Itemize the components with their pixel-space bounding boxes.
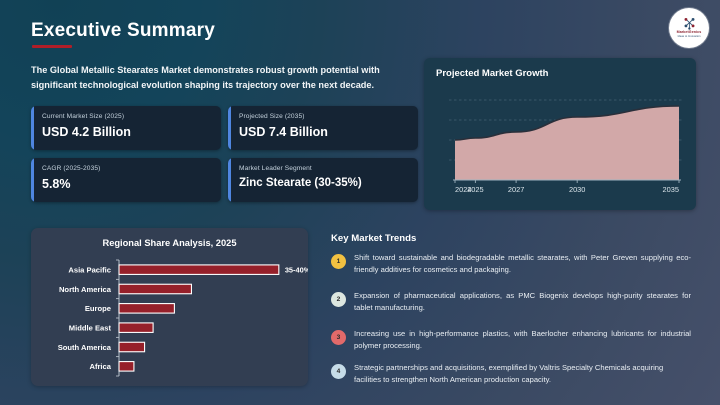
- trend-number-badge: 2: [331, 292, 346, 307]
- trend-item: 1 Shift toward sustainable and biodegrad…: [331, 252, 691, 277]
- page-title: Executive Summary: [31, 20, 215, 42]
- kpi-label: Current Market Size (2025): [42, 113, 124, 120]
- trend-item: 4 Strategic partnerships and acquisition…: [331, 362, 691, 387]
- svg-text:35-40%: 35-40%: [285, 266, 308, 275]
- page-subtitle: The Global Metallic Stearates Market dem…: [31, 63, 411, 93]
- brand-logo: MarketGenics Ideas to Innovation: [669, 8, 709, 48]
- svg-text:2025: 2025: [467, 185, 483, 194]
- kpi-card-current-market-size: Current Market Size (2025) USD 4.2 Billi…: [31, 106, 221, 150]
- kpi-value: USD 7.4 Billion: [239, 125, 328, 139]
- kpi-card-cagr: CAGR (2025-2035) 5.8%: [31, 158, 221, 202]
- svg-text:South America: South America: [58, 343, 112, 352]
- kpi-card-market-leader-segment: Market Leader Segment Zinc Stearate (30-…: [228, 158, 418, 202]
- key-market-trends-title: Key Market Trends: [331, 233, 416, 244]
- svg-text:2030: 2030: [569, 185, 585, 194]
- trend-item: 3 Increasing use in high-performance pla…: [331, 328, 691, 353]
- trend-text: Expansion of pharmaceutical applications…: [354, 290, 691, 315]
- title-accent-underline: [32, 45, 72, 48]
- svg-text:Europe: Europe: [85, 304, 111, 313]
- regional-share-panel: Regional Share Analysis, 2025 Asia Pacif…: [31, 228, 308, 386]
- trend-text: Shift toward sustainable and biodegradab…: [354, 252, 691, 277]
- trend-number-badge: 4: [331, 364, 346, 379]
- kpi-label: Market Leader Segment: [239, 165, 312, 172]
- svg-text:North America: North America: [59, 285, 112, 294]
- kpi-label: Projected Size (2035): [239, 113, 305, 120]
- trend-number-badge: 1: [331, 254, 346, 269]
- trend-item: 2 Expansion of pharmaceutical applicatio…: [331, 290, 691, 315]
- projected-market-growth-panel: Projected Market Growth 2024202520272030…: [424, 58, 696, 210]
- molecule-node-icon: [682, 17, 697, 30]
- trend-text: Strategic partnerships and acquisitions,…: [354, 362, 691, 387]
- trend-number-badge: 3: [331, 330, 346, 345]
- kpi-value: Zinc Stearate (30-35%): [239, 177, 362, 189]
- kpi-card-projected-size: Projected Size (2035) USD 7.4 Billion: [228, 106, 418, 150]
- kpi-value: USD 4.2 Billion: [42, 125, 131, 139]
- regional-chart-title: Regional Share Analysis, 2025: [31, 238, 308, 248]
- regional-share-analysis-chart: Asia Pacific35-40%North AmericaEuropeMid…: [31, 254, 308, 382]
- svg-text:Africa: Africa: [89, 362, 111, 371]
- svg-text:2035: 2035: [663, 185, 679, 194]
- svg-text:Middle East: Middle East: [69, 324, 112, 333]
- svg-text:2027: 2027: [508, 185, 524, 194]
- logo-tagline: Ideas to Innovation: [678, 35, 701, 38]
- trend-text: Increasing use in high-performance plast…: [354, 328, 691, 353]
- projected-market-growth-chart: 20242025202720302035: [433, 88, 687, 200]
- growth-chart-title: Projected Market Growth: [436, 68, 548, 79]
- svg-text:Asia Pacific: Asia Pacific: [68, 266, 111, 275]
- kpi-value: 5.8%: [42, 177, 71, 191]
- kpi-label: CAGR (2025-2035): [42, 165, 100, 172]
